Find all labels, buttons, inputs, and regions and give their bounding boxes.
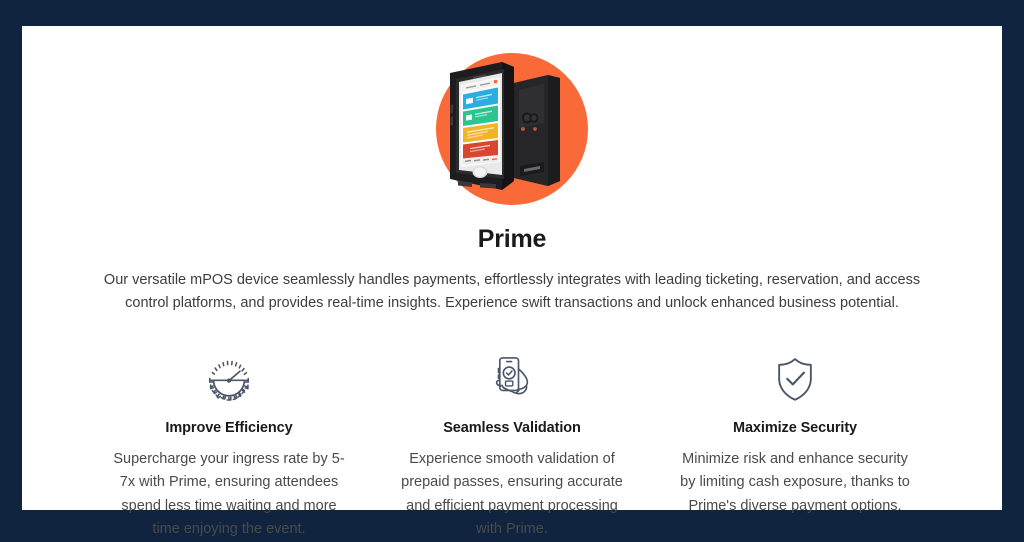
feature-body: Supercharge your ingress rate by 5-7x wi…: [112, 448, 346, 542]
feature-item-improve-efficiency: Improve Efficiency Supercharge your ingr…: [88, 351, 371, 542]
page-title: Prime: [478, 224, 546, 254]
feature-list: Improve Efficiency Supercharge your ingr…: [22, 351, 1002, 542]
shield-check-icon: [767, 351, 823, 407]
feature-heading: Maximize Security: [733, 420, 857, 436]
hand-phone-check-icon: [484, 351, 540, 407]
feature-body: Experience smooth validation of prepaid …: [395, 448, 629, 542]
feature-item-seamless-validation: Seamless Validation Experience smooth va…: [371, 351, 654, 542]
product-hero: Prime Our versatile mPOS device seamless…: [22, 26, 1002, 316]
feature-heading: Improve Efficiency: [165, 420, 292, 436]
speedometer-gear-icon: [201, 351, 257, 407]
product-description: Our versatile mPOS device seamlessly han…: [97, 269, 927, 316]
prime-mpos-device-photo: [428, 45, 596, 213]
product-image-badge: [436, 53, 588, 205]
page-frame: Prime Our versatile mPOS device seamless…: [0, 0, 1024, 538]
feature-body: Minimize risk and enhance security by li…: [678, 448, 912, 518]
feature-item-maximize-security: Maximize Security Minimize risk and enha…: [654, 351, 937, 542]
feature-heading: Seamless Validation: [443, 420, 581, 436]
product-content-card: Prime Our versatile mPOS device seamless…: [22, 26, 1002, 510]
